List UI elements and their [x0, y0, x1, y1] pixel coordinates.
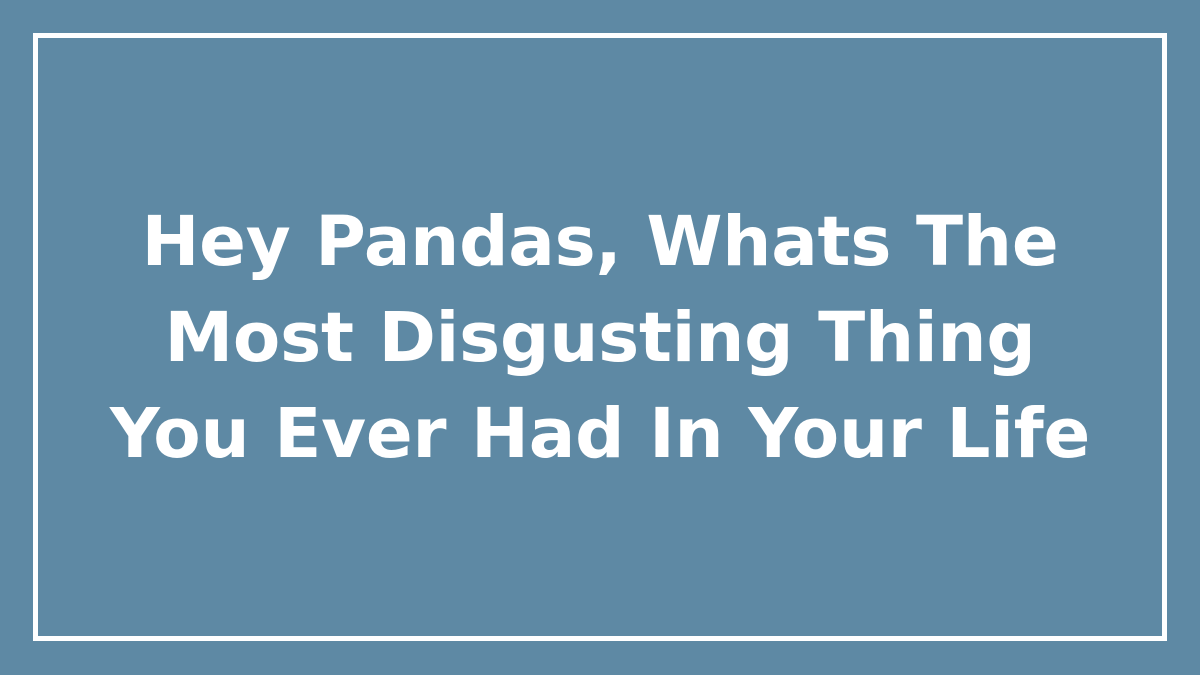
page-title: Hey Pandas, Whats The Most Disgusting Th… — [95, 194, 1105, 482]
headline-container: Hey Pandas, Whats The Most Disgusting Th… — [95, 194, 1105, 482]
title-card: Hey Pandas, Whats The Most Disgusting Th… — [0, 0, 1200, 675]
